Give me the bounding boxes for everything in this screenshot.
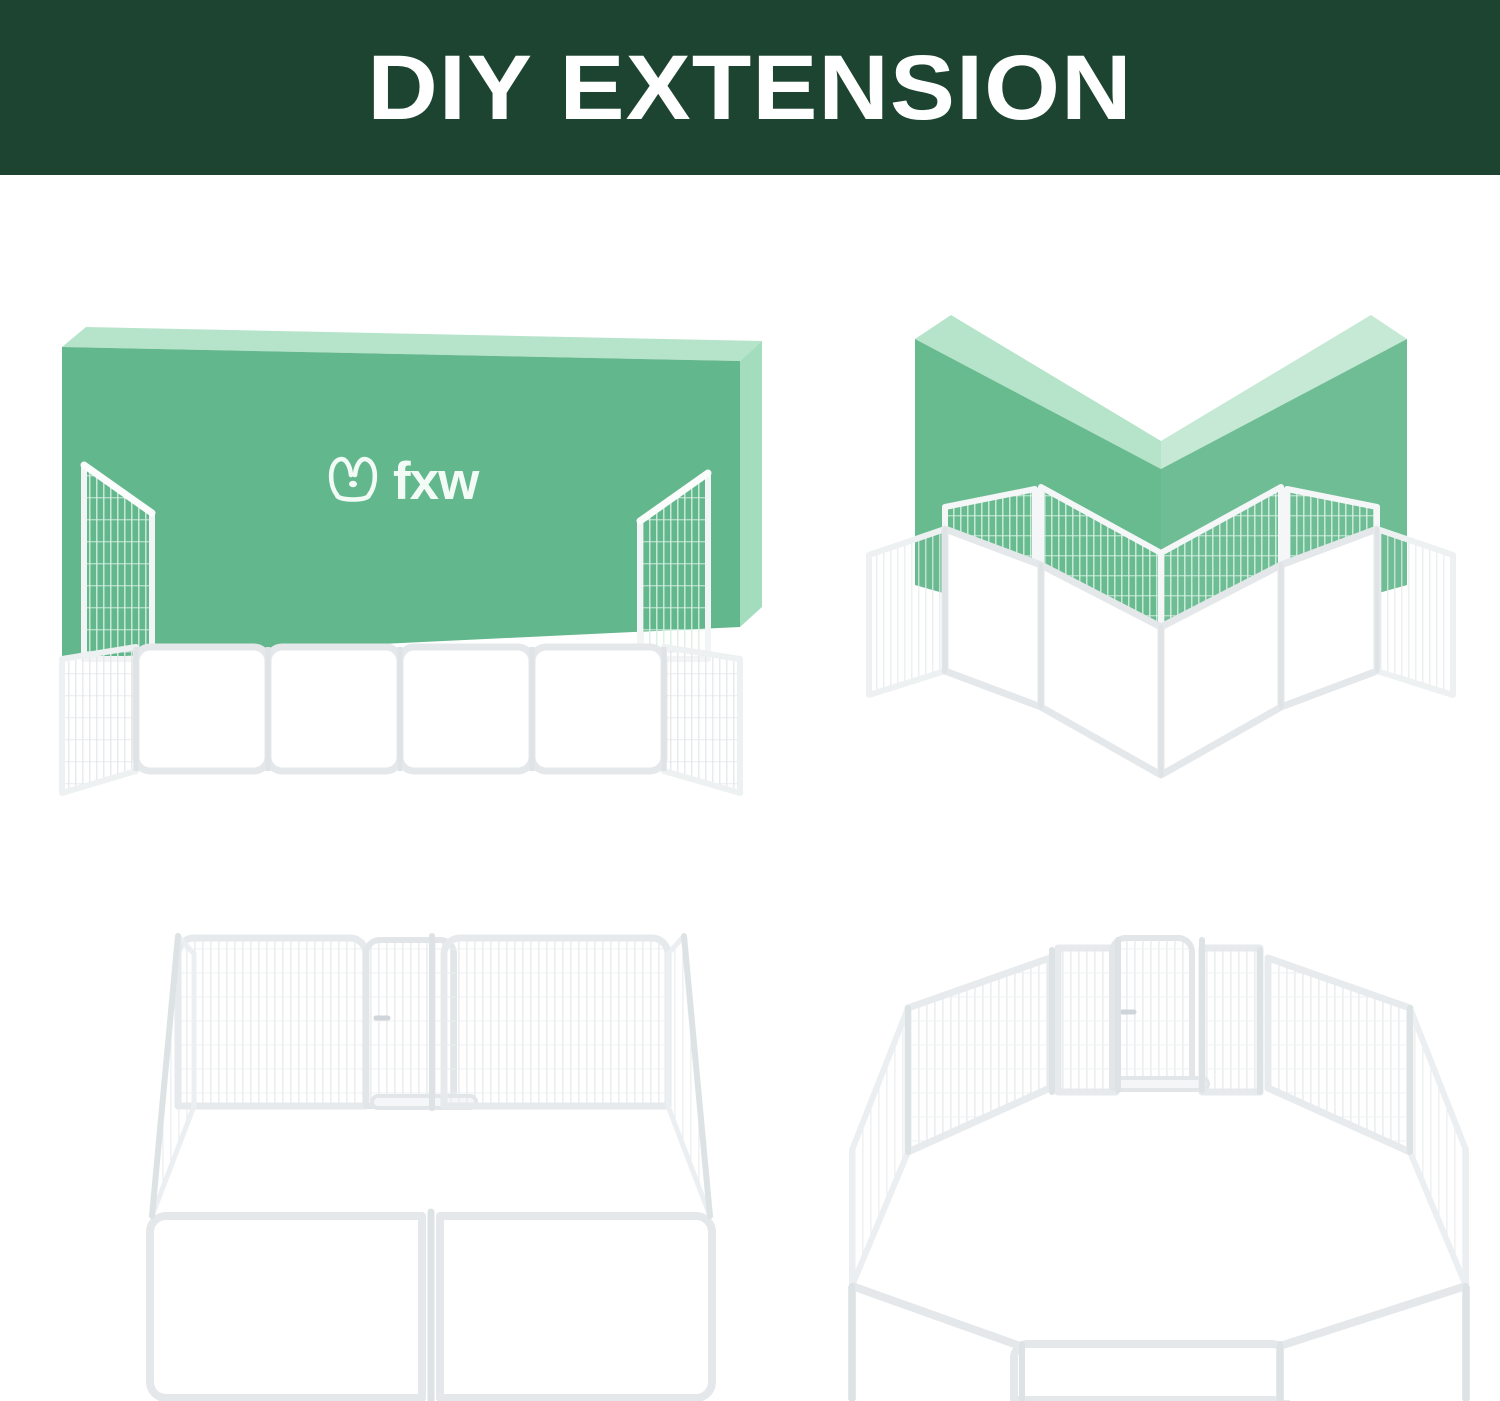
fence-panel-left-wing xyxy=(62,647,136,793)
figure-straight-wall-extension xyxy=(40,255,760,815)
fence-panel-front-2 xyxy=(268,647,400,771)
header-banner: DIY EXTENSION xyxy=(0,0,1500,175)
fence-panel-front-3 xyxy=(400,647,532,771)
fence-panel-front-center xyxy=(1014,1344,1286,1400)
figure-rectangular-pen xyxy=(130,900,770,1400)
wall-side-edge xyxy=(740,341,762,627)
pen-rectangular-body xyxy=(62,647,740,793)
pen-front-wall xyxy=(150,1212,712,1400)
fence-panel-front-right xyxy=(440,1216,712,1398)
fence-panel-front-4 xyxy=(532,647,664,771)
gate-bottom-rail xyxy=(1116,1078,1208,1090)
straight-wall-illustration xyxy=(40,255,760,815)
fence-panel-right-wing xyxy=(664,647,740,793)
fence-panel-front-1 xyxy=(136,647,268,771)
fence-panel-rear-left xyxy=(178,938,366,1106)
fence-panel-back-left xyxy=(908,958,1050,1152)
fence-panel-side-left xyxy=(852,1008,908,1286)
fence-panel-front-left xyxy=(150,1216,422,1398)
pen-rear-wall xyxy=(178,936,668,1108)
figure-octagonal-pen xyxy=(830,900,1470,1400)
figure-corner-wall-extension xyxy=(855,255,1465,815)
product-infographic-page: DIY EXTENSION xyxy=(0,0,1500,1401)
octagonal-pen-illustration xyxy=(830,900,1470,1400)
fence-panel-side-right xyxy=(1410,1008,1466,1286)
fence-panel-side-left-outer xyxy=(869,529,945,695)
page-title: DIY EXTENSION xyxy=(367,42,1132,134)
pen-gate[interactable] xyxy=(1112,938,1208,1090)
fence-panel-rear-right xyxy=(1202,948,1260,1092)
fence-panel-rear-left xyxy=(1058,948,1116,1092)
fence-panel-rear-right xyxy=(444,938,668,1106)
rectangular-pen-illustration xyxy=(130,900,770,1400)
fence-panel-side-right-outer xyxy=(1377,529,1453,695)
fence-panel-front-right xyxy=(1280,1286,1466,1400)
corner-wall-illustration xyxy=(855,255,1465,815)
fence-panel-front-left xyxy=(852,1286,1020,1400)
fence-panel-back-right xyxy=(1268,958,1410,1152)
